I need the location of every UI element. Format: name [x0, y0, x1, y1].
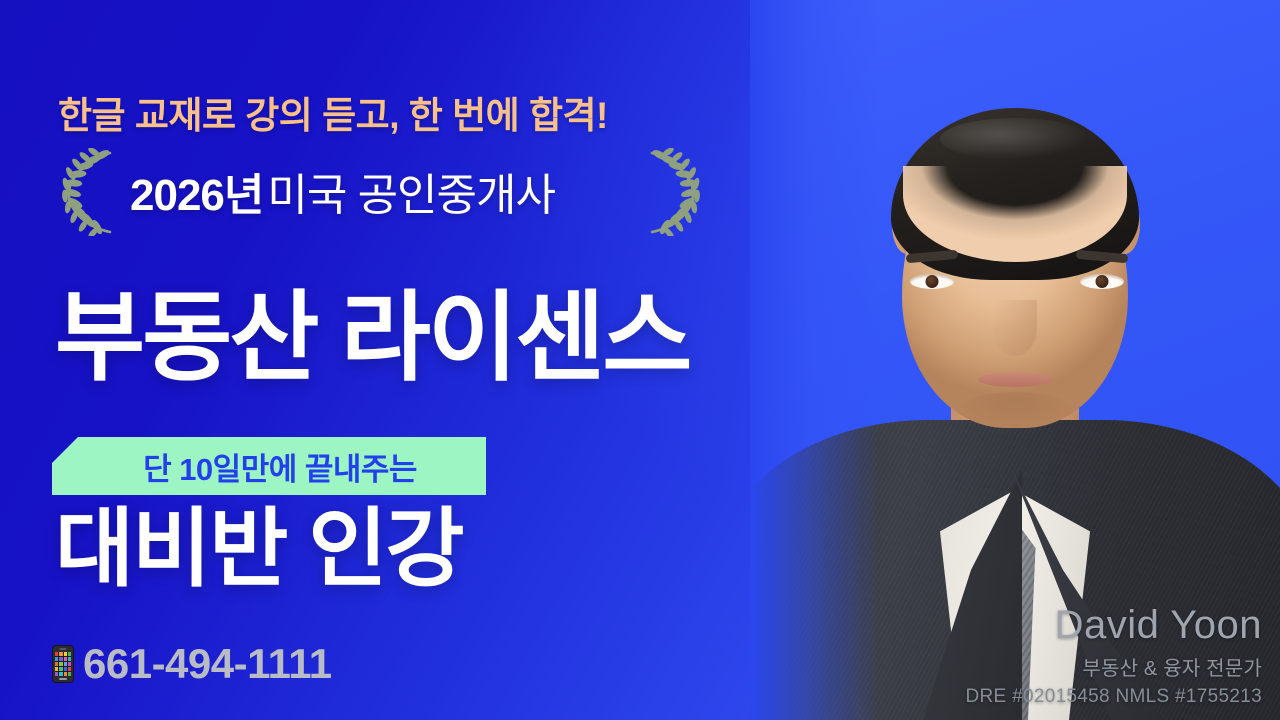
agent-licenses: DRE #02015458 NMLS #1755213 [966, 686, 1262, 708]
phone-row[interactable]: 661-494-1111 [52, 640, 332, 688]
year-subject: 미국 공인중개사 [267, 159, 555, 223]
agent-role: 부동산 & 융자 전문가 [966, 652, 1262, 681]
course-badge-label: 단 10일만에 끝내주는 [121, 444, 417, 489]
hair-highlight [940, 118, 1090, 160]
agent-name: David Yoon [966, 603, 1262, 648]
agent-info-block: David Yoon 부동산 & 융자 전문가 DRE #02015458 NM… [966, 603, 1262, 708]
headline-secondary: 대비반 인강 [55, 506, 463, 592]
phone-number[interactable]: 661-494-1111 [83, 640, 332, 688]
mouth [978, 372, 1052, 387]
laurel-wreath-right-icon [642, 148, 704, 236]
year-number: 2026년 [130, 159, 263, 223]
mobile-phone-icon [52, 645, 74, 683]
course-badge: 단 10일만에 끝내주는 [52, 437, 486, 495]
text-column: 한글 교재로 강의 듣고, 한 번에 합격! [0, 0, 790, 720]
year-title: 2026년 미국 공인중개사 [55, 154, 630, 228]
chin-shadow [955, 392, 1075, 434]
eye-left [910, 274, 954, 289]
promo-banner: 한글 교재로 강의 듣고, 한 번에 합격! [0, 0, 1280, 720]
headline-primary: 부동산 라이센스 [55, 288, 689, 386]
eye-right [1080, 274, 1124, 289]
kicker-text: 한글 교재로 강의 듣고, 한 번에 합격! [58, 85, 608, 139]
agent-portrait: David Yoon 부동산 & 융자 전문가 DRE #02015458 NM… [750, 0, 1280, 720]
nose [993, 300, 1037, 356]
